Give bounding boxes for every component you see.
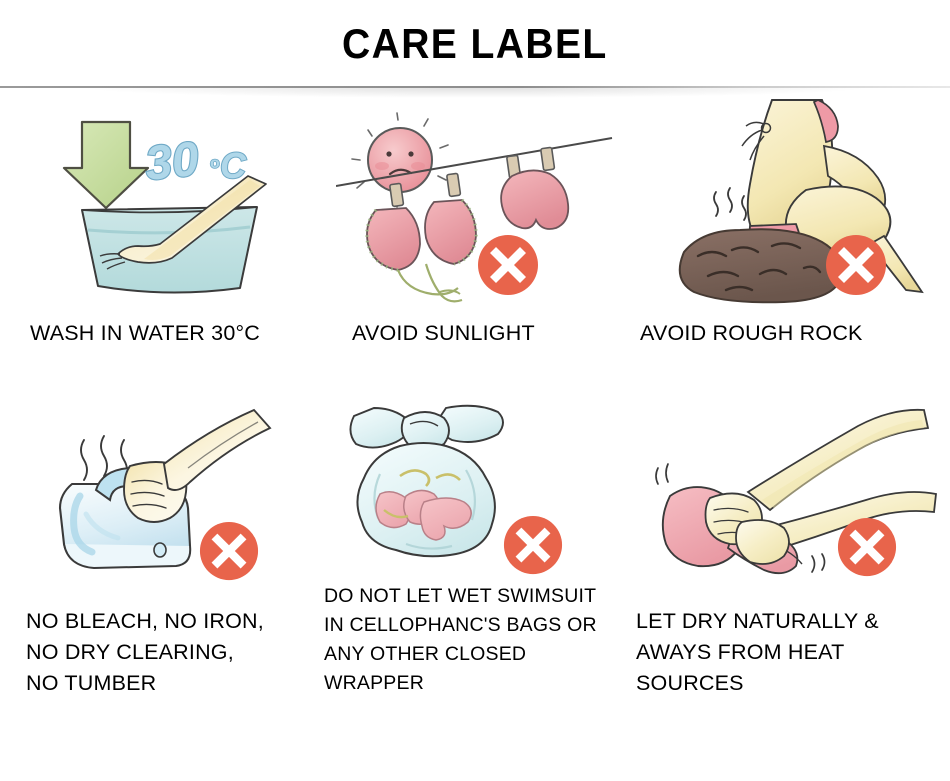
panel-caption: NO BLEACH, NO IRON, NO DRY CLEARING, NO … bbox=[26, 606, 264, 699]
plastic-bag-illustration bbox=[316, 392, 632, 583]
wringing-swimsuit-illustration bbox=[632, 392, 950, 601]
page-title: CARE LABEL bbox=[342, 20, 608, 68]
panel-no-bleach-no-iron: NO BLEACH, NO IRON, NO DRY CLEARING, NO … bbox=[0, 392, 316, 781]
discomfort-marks bbox=[714, 188, 746, 220]
care-instructions-grid: 30 o C bbox=[0, 88, 950, 781]
forbidden-badge bbox=[824, 233, 888, 297]
forbidden-badge bbox=[836, 516, 898, 578]
forbidden-badge bbox=[476, 233, 540, 297]
panel-wash-in-water: 30 o C bbox=[0, 88, 316, 392]
panel-caption: WASH IN WATER 30°C bbox=[30, 318, 260, 349]
panel-avoid-sunlight: AVOID SUNLIGHT bbox=[316, 88, 632, 392]
care-label-page: CARE LABEL bbox=[0, 0, 950, 781]
panel-no-wet-swimsuit-in-bag: DO NOT LET WET SWIMSUIT IN CELLOPHANC'S … bbox=[316, 392, 632, 781]
panel-avoid-rough-rock: AVOID ROUGH ROCK bbox=[632, 88, 950, 392]
iron-illustration bbox=[0, 392, 316, 599]
svg-text:30: 30 bbox=[143, 133, 202, 191]
person-sitting-on-rock-illustration bbox=[632, 88, 950, 309]
panel-caption: AVOID ROUGH ROCK bbox=[640, 318, 863, 349]
temperature-text: 30 o C bbox=[143, 133, 247, 191]
panel-caption: AVOID SUNLIGHT bbox=[352, 318, 535, 349]
panel-caption: LET DRY NATURALLY & AWAYS FROM HEAT SOUR… bbox=[636, 606, 879, 699]
sun-clothesline-illustration bbox=[316, 88, 632, 309]
panel-caption: DO NOT LET WET SWIMSUIT IN CELLOPHANC'S … bbox=[324, 582, 597, 698]
forbidden-badge bbox=[198, 520, 260, 582]
svg-text:o: o bbox=[210, 155, 220, 172]
page-header: CARE LABEL bbox=[0, 0, 950, 88]
wash-basin-illustration: 30 o C bbox=[0, 88, 316, 306]
panel-let-dry-naturally: LET DRY NATURALLY & AWAYS FROM HEAT SOUR… bbox=[632, 392, 950, 781]
forbidden-badge bbox=[502, 514, 564, 576]
